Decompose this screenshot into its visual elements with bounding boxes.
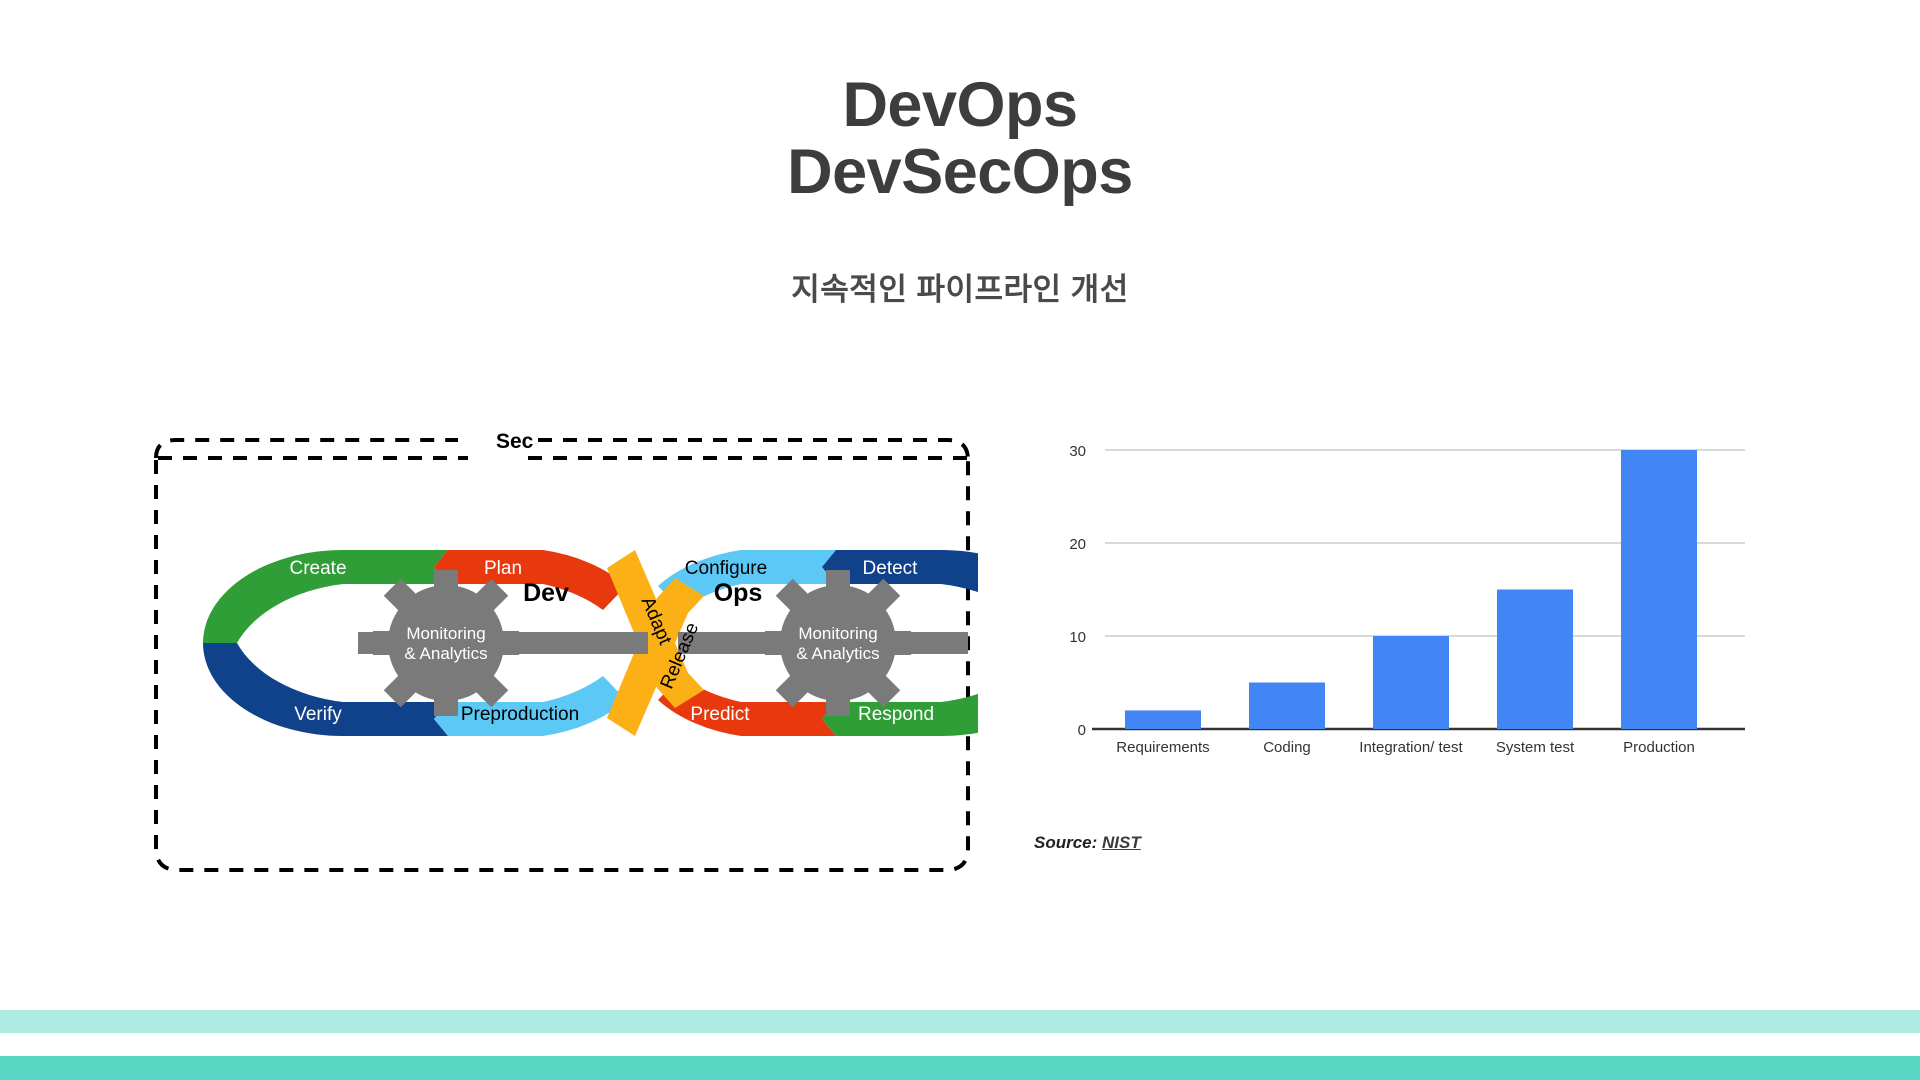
svg-text:Integration/ test: Integration/ test xyxy=(1359,739,1463,756)
ops-stage-label-configure: Configure xyxy=(685,558,767,579)
svg-text:0: 0 xyxy=(1078,722,1086,739)
ops-hub-gear-icon xyxy=(765,570,911,716)
dev-hub-gear-icon xyxy=(373,570,519,716)
page-subtitle: 지속적인 파이프라인 개선 xyxy=(0,264,1920,309)
title-line-devops: DevOps xyxy=(0,72,1920,139)
bar-production xyxy=(1621,450,1697,729)
bar-coding xyxy=(1249,683,1325,730)
ops-stage-label-detect: Detect xyxy=(863,558,919,579)
chart-x-tick-labels: Requirements Coding Integration/ test Sy… xyxy=(1116,739,1695,756)
source-link-nist[interactable]: NIST xyxy=(1102,833,1141,852)
title-line-devsecops: DevSecOps xyxy=(0,139,1920,206)
dev-section-label: Dev xyxy=(523,579,569,607)
svg-text:10: 10 xyxy=(1069,629,1086,646)
ops-hub-label-line1: Monitoring xyxy=(798,624,877,643)
svg-text:30: 30 xyxy=(1069,443,1086,460)
bar-system-test xyxy=(1497,590,1573,730)
svg-text:Coding: Coding xyxy=(1263,739,1311,756)
dev-stage-label-verify: Verify xyxy=(294,704,342,725)
source-prefix: Source: xyxy=(1034,833,1097,852)
chart-y-tick-labels: 30 20 10 0 xyxy=(1069,443,1086,739)
dev-hub-label-line2: & Analytics xyxy=(404,644,487,663)
ops-hub-label-line2: & Analytics xyxy=(796,644,879,663)
svg-text:Requirements: Requirements xyxy=(1116,739,1209,756)
page-title: DevOps DevSecOps xyxy=(0,72,1920,207)
svg-text:20: 20 xyxy=(1069,536,1086,553)
svg-text:System test: System test xyxy=(1496,739,1575,756)
bar-requirements xyxy=(1125,710,1201,729)
ops-stage-label-respond: Respond xyxy=(858,704,934,725)
chart-bars xyxy=(1125,450,1697,729)
devsecops-loop-diagram: Sec xyxy=(148,418,978,878)
chart-source: Source: NIST xyxy=(1034,833,1141,853)
dev-hub-label-line1: Monitoring xyxy=(406,624,485,643)
sec-label: Sec xyxy=(496,430,534,453)
dev-stage-label-preproduction: Preproduction xyxy=(461,704,579,725)
cost-of-defect-bar-chart: 30 20 10 0 Requirements Coding Integrati… xyxy=(1030,430,1760,850)
ops-stage-label-predict: Predict xyxy=(690,704,750,725)
svg-text:Production: Production xyxy=(1623,739,1695,756)
decorative-bar-light xyxy=(0,1010,1920,1033)
ops-section-label: Ops xyxy=(714,579,763,607)
slide-root: DevOps DevSecOps 지속적인 파이프라인 개선 Sec xyxy=(0,0,1920,1080)
dev-stage-label-create: Create xyxy=(289,558,346,579)
bar-integration-test xyxy=(1373,636,1449,729)
dev-stage-label-plan: Plan xyxy=(484,558,522,579)
decorative-bar-dark xyxy=(0,1056,1920,1080)
